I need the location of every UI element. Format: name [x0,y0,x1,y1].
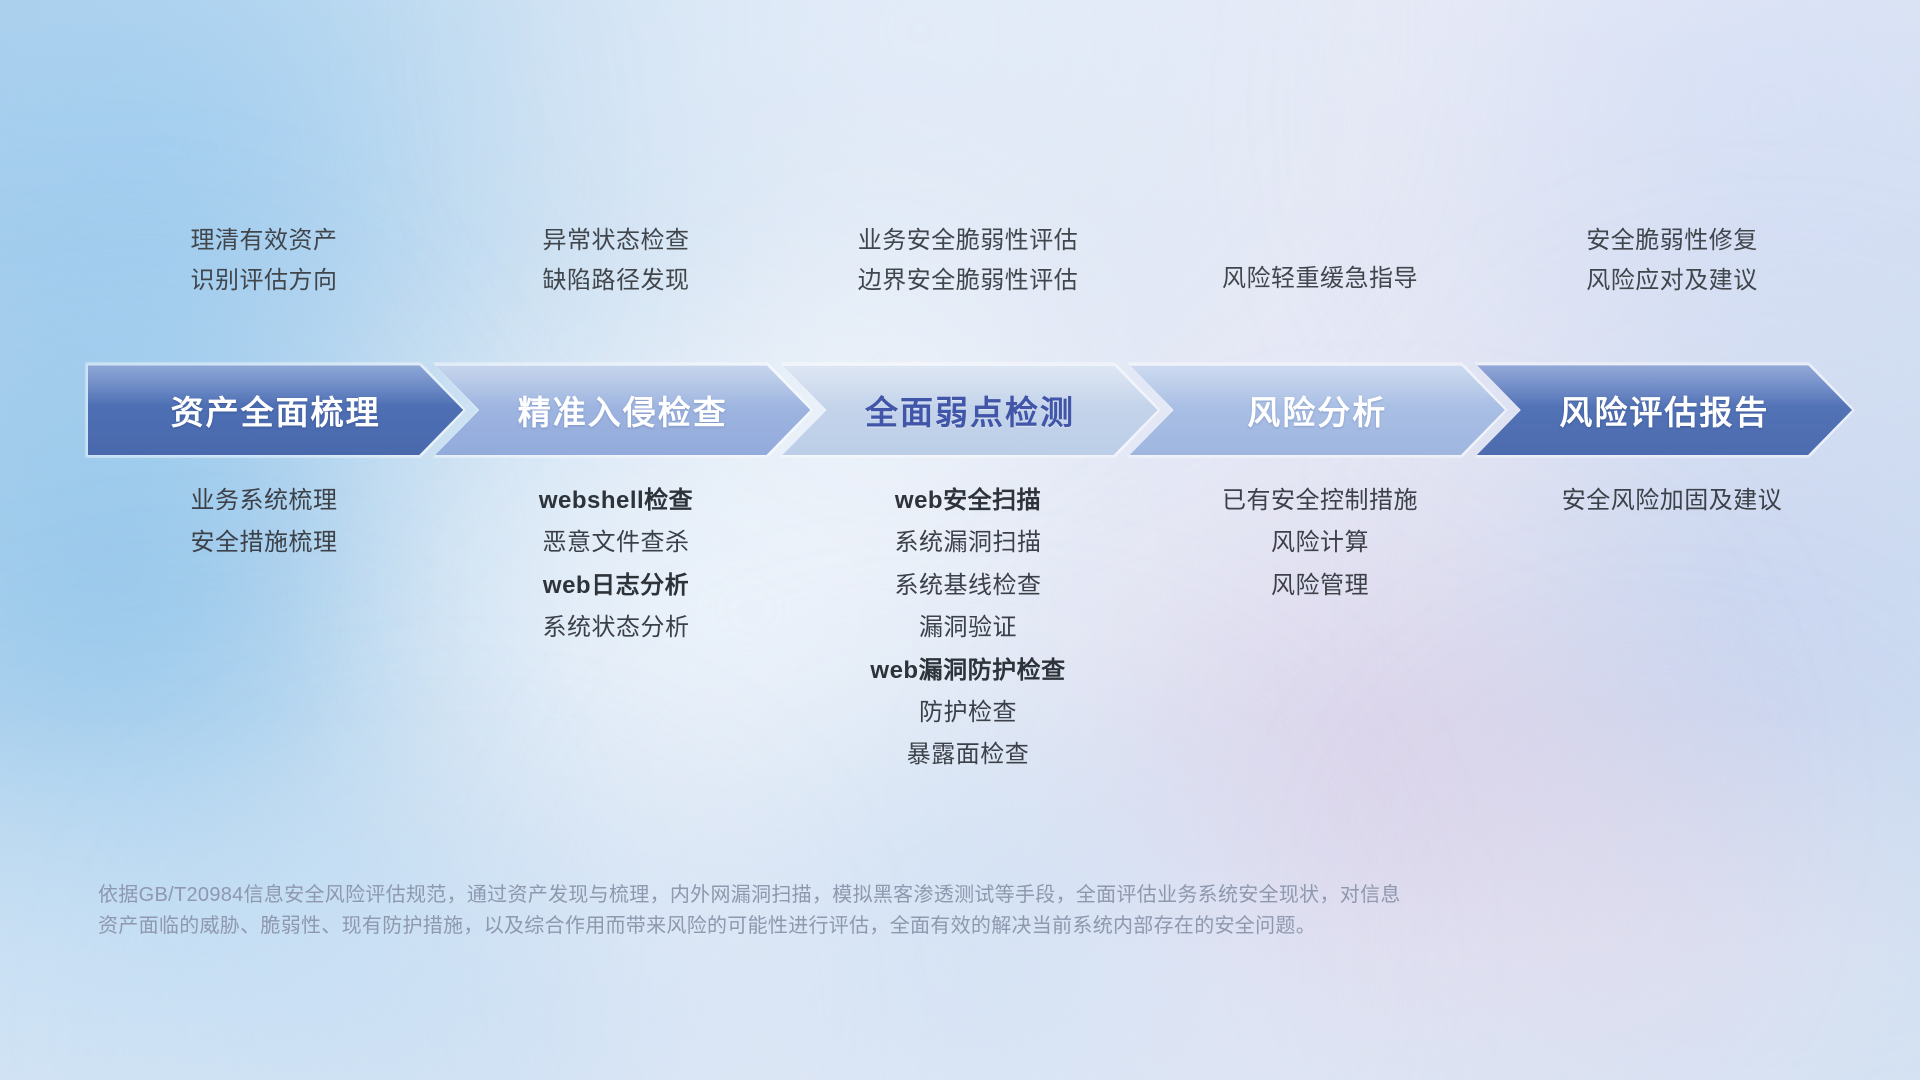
stage-item: 已有安全控制措施 [1222,488,1418,514]
process-chevron-band: 资产全面梳理精准入侵检查全面弱点检测风险分析风险评估报告 [88,365,1852,455]
chevron-wrap-risk-analysis: 风险分析 [1130,365,1505,455]
chevron-label: 精准入侵检查 [518,386,728,434]
stage-item: web漏洞防护检查 [870,658,1065,684]
stage-item: 恶意文件查杀 [543,530,690,556]
chevron-stage-risk-analysis[interactable]: 风险分析 [1130,365,1505,455]
stage-item: 暴露面检查 [907,742,1030,768]
chevron-label: 全面弱点检测 [865,386,1075,434]
top-note: 理清有效资产 [191,228,338,254]
items-risk-analysis: 已有安全控制措施风险计算风险管理 [1144,488,1496,769]
stage-item: 风险计算 [1271,530,1369,556]
stage-item: web安全扫描 [895,488,1041,514]
chevron-stage-weakness-detection[interactable]: 全面弱点检测 [782,365,1157,455]
chevron-stage-asset-inventory[interactable]: 资产全面梳理 [88,365,463,455]
top-note: 风险应对及建议 [1586,268,1758,294]
stage-item: web日志分析 [543,573,689,599]
stage-items-row: 业务系统梳理安全措施梳理webshell检查恶意文件查杀web日志分析系统状态分… [88,488,1848,769]
stage-item: 安全措施梳理 [191,530,338,556]
top-note: 边界安全脆弱性评估 [858,268,1079,294]
chevron-label: 资产全面梳理 [171,386,381,434]
top-notes-intrusion-check: 异常状态检查缺陷路径发现 [440,228,792,295]
top-notes-risk-analysis: 风险轻重缓急指导 [1144,228,1496,295]
top-notes-asset-inventory: 理清有效资产识别评估方向 [88,228,440,295]
top-note: 识别评估方向 [191,268,338,294]
chevron-label: 风险分析 [1247,386,1387,434]
stage-item: 系统漏洞扫描 [895,530,1042,556]
chevron-wrap-intrusion-check: 精准入侵检查 [435,365,810,455]
footer-line-2: 资产面临的威胁、脆弱性、现有防护措施，以及综合作用而带来风险的可能性进行评估，全… [98,911,1658,942]
chevron-wrap-asset-inventory: 资产全面梳理 [88,365,463,455]
top-notes-weakness-detection: 业务安全脆弱性评估边界安全脆弱性评估 [792,228,1144,295]
top-note: 业务安全脆弱性评估 [858,228,1079,254]
chevron-label: 风险评估报告 [1559,386,1769,434]
footer-line-1: 依据GB/T20984信息安全风险评估规范，通过资产发现与梳理，内外网漏洞扫描，… [98,880,1658,911]
top-notes-assessment-report: 安全脆弱性修复风险应对及建议 [1496,228,1848,295]
top-note: 风险轻重缓急指导 [1222,266,1418,292]
stage-item: webshell检查 [539,488,693,514]
items-asset-inventory: 业务系统梳理安全措施梳理 [88,488,440,769]
stage-item: 防护检查 [919,700,1017,726]
chevron-stage-assessment-report[interactable]: 风险评估报告 [1477,365,1852,455]
slide-content: 理清有效资产识别评估方向异常状态检查缺陷路径发现业务安全脆弱性评估边界安全脆弱性… [0,0,1920,1080]
stage-item: 安全风险加固及建议 [1562,488,1783,514]
stage-item: 风险管理 [1271,573,1369,599]
chevron-wrap-assessment-report: 风险评估报告 [1477,365,1852,455]
stage-item: 系统状态分析 [543,615,690,641]
items-intrusion-check: webshell检查恶意文件查杀web日志分析系统状态分析 [440,488,792,769]
stage-item: 系统基线检查 [895,573,1042,599]
slide-canvas: 理清有效资产识别评估方向异常状态检查缺陷路径发现业务安全脆弱性评估边界安全脆弱性… [0,0,1920,1080]
stage-item: 业务系统梳理 [191,488,338,514]
chevron-wrap-weakness-detection: 全面弱点检测 [782,365,1157,455]
top-notes-row: 理清有效资产识别评估方向异常状态检查缺陷路径发现业务安全脆弱性评估边界安全脆弱性… [88,228,1848,295]
top-note: 异常状态检查 [543,228,690,254]
top-note: 缺陷路径发现 [543,268,690,294]
items-assessment-report: 安全风险加固及建议 [1496,488,1848,769]
footer-description: 依据GB/T20984信息安全风险评估规范，通过资产发现与梳理，内外网漏洞扫描，… [98,880,1658,942]
chevron-stage-intrusion-check[interactable]: 精准入侵检查 [435,365,810,455]
items-weakness-detection: web安全扫描系统漏洞扫描系统基线检查漏洞验证web漏洞防护检查防护检查暴露面检… [792,488,1144,769]
top-note: 安全脆弱性修复 [1586,228,1758,254]
stage-item: 漏洞验证 [919,615,1017,641]
